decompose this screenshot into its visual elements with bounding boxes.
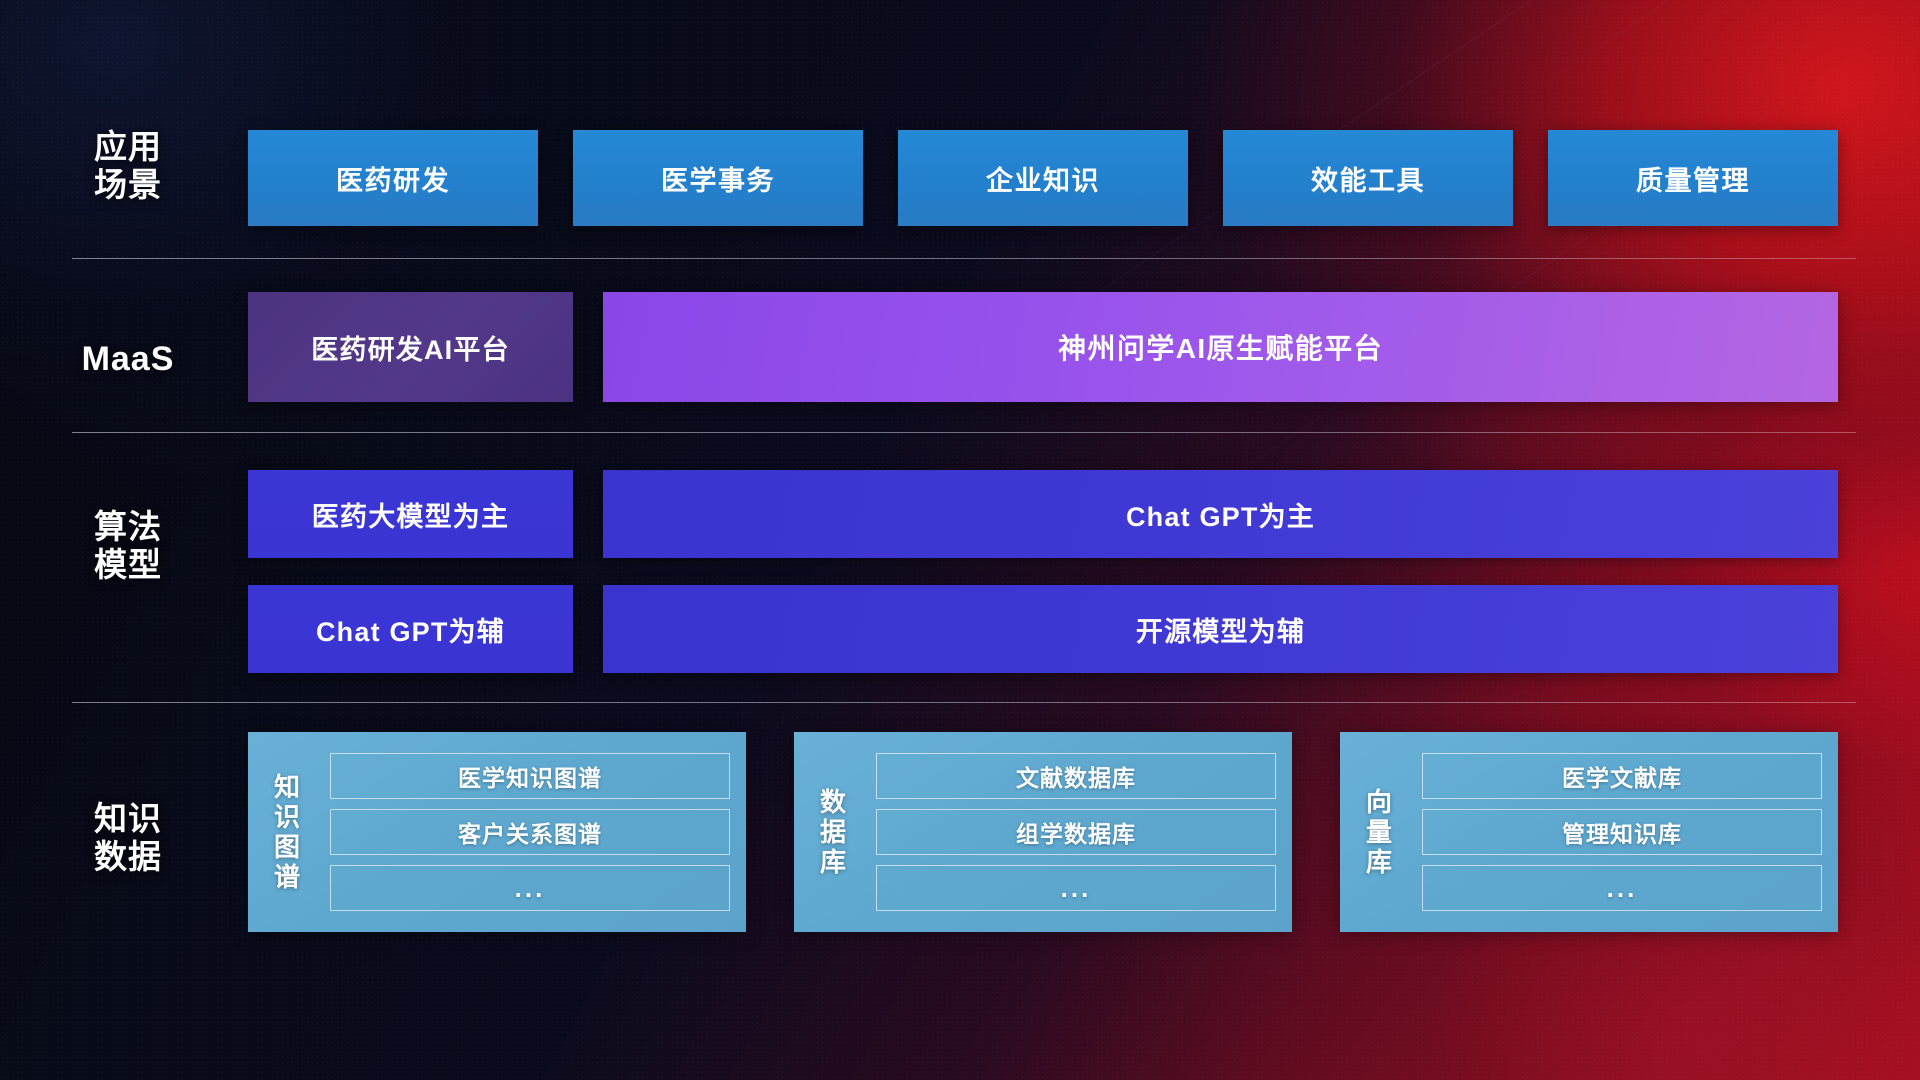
algorithm-row2-left-box[interactable]: Chat GPT为辅 xyxy=(248,585,573,673)
knowledge-item-more[interactable]: ... xyxy=(876,865,1276,911)
algorithm-row2-left-label: Chat GPT为辅 xyxy=(316,610,505,649)
knowledge-item-more[interactable]: ... xyxy=(330,865,730,911)
app-box-2-label: 医学事务 xyxy=(661,159,775,198)
maas-platform-box-label: 神州问学AI原生赋能平台 xyxy=(1058,327,1383,367)
knowledge-group-database-label: 数据库 xyxy=(794,787,872,877)
tier-label-application-line2: 场景 xyxy=(40,166,216,204)
app-box-1[interactable]: 医药研发 xyxy=(248,130,538,226)
tier-label-knowledge-line2: 数据 xyxy=(40,838,216,876)
knowledge-item[interactable]: 客户关系图谱 xyxy=(330,809,730,855)
knowledge-item[interactable]: 医学知识图谱 xyxy=(330,753,730,799)
architecture-diagram: 应用 场景 医药研发 医学事务 企业知识 效能工具 质量管理 MaaS 医药研发… xyxy=(0,0,1920,1080)
algorithm-row1-left-label: 医药大模型为主 xyxy=(312,495,509,534)
knowledge-item[interactable]: 组学数据库 xyxy=(876,809,1276,855)
knowledge-item[interactable]: 医学文献库 xyxy=(1422,753,1822,799)
tier-label-application-line1: 应用 xyxy=(40,128,216,166)
knowledge-item[interactable]: 管理知识库 xyxy=(1422,809,1822,855)
app-box-1-label: 医药研发 xyxy=(336,159,450,198)
separator-maas-algorithm xyxy=(72,432,1856,433)
maas-left-box-label: 医药研发AI平台 xyxy=(311,328,510,367)
app-box-3[interactable]: 企业知识 xyxy=(898,130,1188,226)
knowledge-group-vector-label: 向量库 xyxy=(1340,787,1418,877)
knowledge-item-more[interactable]: ... xyxy=(1422,865,1822,911)
tier-label-application: 应用 场景 xyxy=(40,128,216,205)
app-box-2[interactable]: 医学事务 xyxy=(573,130,863,226)
knowledge-group-vector-items: 医学文献库 管理知识库 ... xyxy=(1418,741,1838,923)
app-box-5[interactable]: 质量管理 xyxy=(1548,130,1838,226)
app-box-3-label: 企业知识 xyxy=(986,159,1100,198)
maas-left-box[interactable]: 医药研发AI平台 xyxy=(248,292,573,402)
tier-label-algorithm: 算法 模型 xyxy=(40,508,216,585)
knowledge-group-database[interactable]: 数据库 文献数据库 组学数据库 ... xyxy=(794,732,1292,932)
algorithm-row1-left-box[interactable]: 医药大模型为主 xyxy=(248,470,573,558)
separator-algorithm-knowledge xyxy=(72,702,1856,703)
tier-label-algorithm-line2: 模型 xyxy=(40,546,216,584)
tier-label-knowledge: 知识 数据 xyxy=(40,800,216,877)
algorithm-row2-right-label: 开源模型为辅 xyxy=(1136,610,1305,649)
tier-label-maas-text: MaaS xyxy=(40,340,216,379)
knowledge-group-graph-label: 知识图谱 xyxy=(248,772,326,893)
algorithm-row1-right-label: Chat GPT为主 xyxy=(1126,495,1315,534)
algorithm-row2-right-box[interactable]: 开源模型为辅 xyxy=(603,585,1838,673)
knowledge-group-vector[interactable]: 向量库 医学文献库 管理知识库 ... xyxy=(1340,732,1838,932)
knowledge-item[interactable]: 文献数据库 xyxy=(876,753,1276,799)
app-box-4-label: 效能工具 xyxy=(1311,159,1425,198)
separator-application-maas xyxy=(72,258,1856,259)
tier-label-maas: MaaS xyxy=(40,340,216,379)
app-box-5-label: 质量管理 xyxy=(1636,159,1750,198)
maas-platform-box[interactable]: 神州问学AI原生赋能平台 xyxy=(603,292,1838,402)
app-box-4[interactable]: 效能工具 xyxy=(1223,130,1513,226)
algorithm-row1-right-box[interactable]: Chat GPT为主 xyxy=(603,470,1838,558)
knowledge-group-graph[interactable]: 知识图谱 医学知识图谱 客户关系图谱 ... xyxy=(248,732,746,932)
tier-label-algorithm-line1: 算法 xyxy=(40,508,216,546)
tier-label-knowledge-line1: 知识 xyxy=(40,800,216,838)
knowledge-group-database-items: 文献数据库 组学数据库 ... xyxy=(872,741,1292,923)
knowledge-group-graph-items: 医学知识图谱 客户关系图谱 ... xyxy=(326,741,746,923)
